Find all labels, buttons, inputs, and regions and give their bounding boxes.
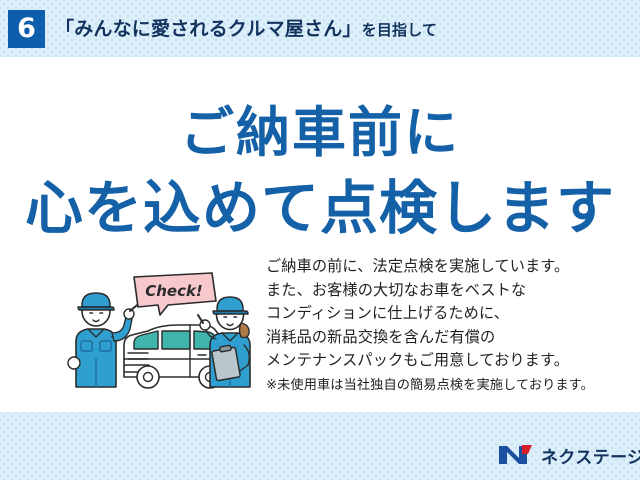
- headline-secondary: 心を込めて点検します: [0, 161, 640, 245]
- nextage-logo: ネクステージ: [498, 442, 640, 468]
- header-title-suffix: を目指して: [362, 21, 438, 39]
- brand-name: ネクステージ: [541, 443, 640, 468]
- section-number-badge: 6: [8, 10, 45, 48]
- body-line: ご納車の前に、法定点検を実施しています。: [266, 255, 626, 279]
- body-line: メンテナンスパックもご用意しております。: [266, 349, 626, 373]
- headline-primary: ご納車前に: [0, 88, 640, 167]
- body-line: コンディションに仕上げるために、: [266, 302, 626, 326]
- body-copy: ご納車の前に、法定点検を実施しています。 また、お客様の大切なお車をベストな コ…: [266, 255, 626, 397]
- header-title: 「みんなに愛されるクルマ屋さん」を目指して: [55, 14, 437, 41]
- nextage-n-mark: [498, 443, 534, 467]
- body-line: また、お客様の大切なお車をベストな: [266, 279, 626, 303]
- content-panel: ご納車前に 心を込めて点検します: [0, 57, 640, 412]
- advertisement-page: 6 「みんなに愛されるクルマ屋さん」を目指して ご納車前に 心を込めて点検します: [0, 0, 640, 480]
- check-bubble-label: Check!: [145, 282, 203, 300]
- header-title-main: 「みんなに愛されるクルマ屋さん」: [55, 18, 362, 40]
- mechanics-illustration: Check!: [62, 267, 267, 402]
- body-note: ※未使用車は当社独自の簡易点検を実施しております。: [266, 375, 626, 397]
- body-line: 消耗品の新品交換を含んだ有償の: [266, 326, 626, 350]
